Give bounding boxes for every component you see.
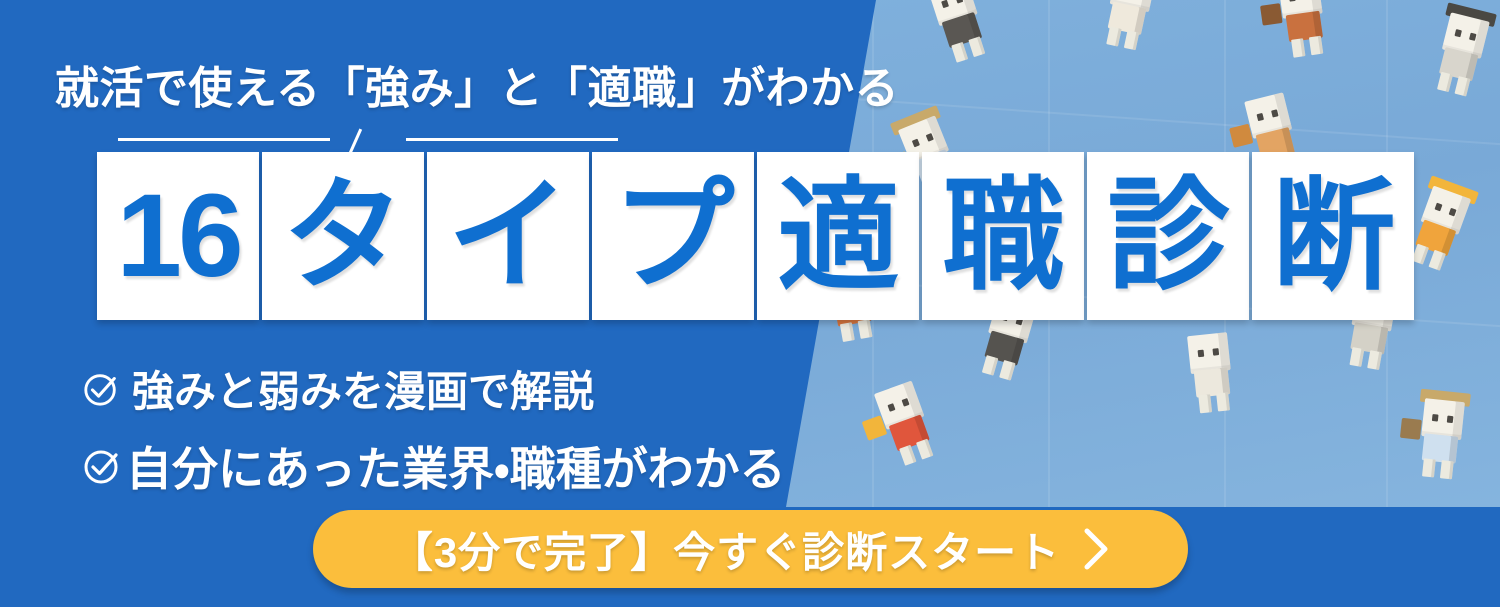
headline-tile: 適 [757, 152, 919, 320]
headline-tile: プ [592, 152, 754, 320]
headline-tile-char: 16 [116, 177, 239, 295]
figure-legs [1422, 458, 1454, 479]
promo-banner: 就活で使える「強み」と「適職」がわかる 16タイプ適職診断 強みと弱みを漫画で解… [0, 0, 1500, 607]
voxel-figure [1406, 397, 1476, 481]
feature-item: 自分にあった業界・職種がわかる [82, 433, 786, 499]
figure-legs [1349, 347, 1382, 370]
voxel-figure [1421, 10, 1500, 101]
divider [118, 128, 618, 150]
feature-list: 強みと弱みを漫画で解説 自分にあった業界・職種がわかる [82, 358, 786, 499]
headline-tile-char: タ [283, 175, 404, 297]
headline-tiles: 16タイプ適職診断 [97, 152, 1414, 320]
feature-label: 自分にあった業界・職種がわかる [126, 433, 786, 499]
check-circle-icon [82, 370, 120, 408]
figure-legs [1291, 36, 1323, 58]
headline-tile-char: プ [613, 175, 734, 297]
headline-tile: 16 [97, 152, 259, 320]
headline-tile-char: イ [448, 175, 569, 297]
headline-tile: 職 [922, 152, 1084, 320]
headline-tile: 診 [1087, 152, 1249, 320]
voxel-figure [864, 377, 949, 472]
figure-prop [1400, 418, 1422, 440]
divider-slash [349, 129, 362, 154]
check-circle-icon [82, 446, 122, 486]
voxel-figure [1267, 0, 1339, 60]
tagline: 就活で使える「強み」と「適職」がわかる [55, 52, 899, 116]
figure-prop [1260, 3, 1283, 26]
headline-tile-char: 適 [778, 175, 899, 297]
start-diagnosis-label: 【3分で完了】今すぐ診断スタート [391, 519, 1060, 580]
headline-tile-char: 断 [1273, 175, 1394, 297]
headline-tile: タ [262, 152, 424, 320]
feature-label: 強みと弱みを漫画で解説 [132, 358, 594, 419]
headline-tile-char: 職 [943, 175, 1064, 297]
start-diagnosis-button[interactable]: 【3分で完了】今すぐ診断スタート [313, 510, 1188, 588]
voxel-figure [1176, 331, 1246, 415]
voxel-figure [1091, 0, 1168, 54]
chevron-right-icon [1082, 527, 1110, 571]
figure-legs [1198, 392, 1230, 413]
figure-legs [840, 319, 873, 342]
divider-line-left [118, 138, 330, 141]
headline-tile: イ [427, 152, 589, 320]
headline-tile: 断 [1252, 152, 1414, 320]
headline-tile-char: 診 [1108, 175, 1229, 297]
voxel-figure [917, 0, 1000, 68]
divider-line-right [406, 138, 618, 141]
feature-item: 強みと弱みを漫画で解説 [82, 358, 786, 419]
